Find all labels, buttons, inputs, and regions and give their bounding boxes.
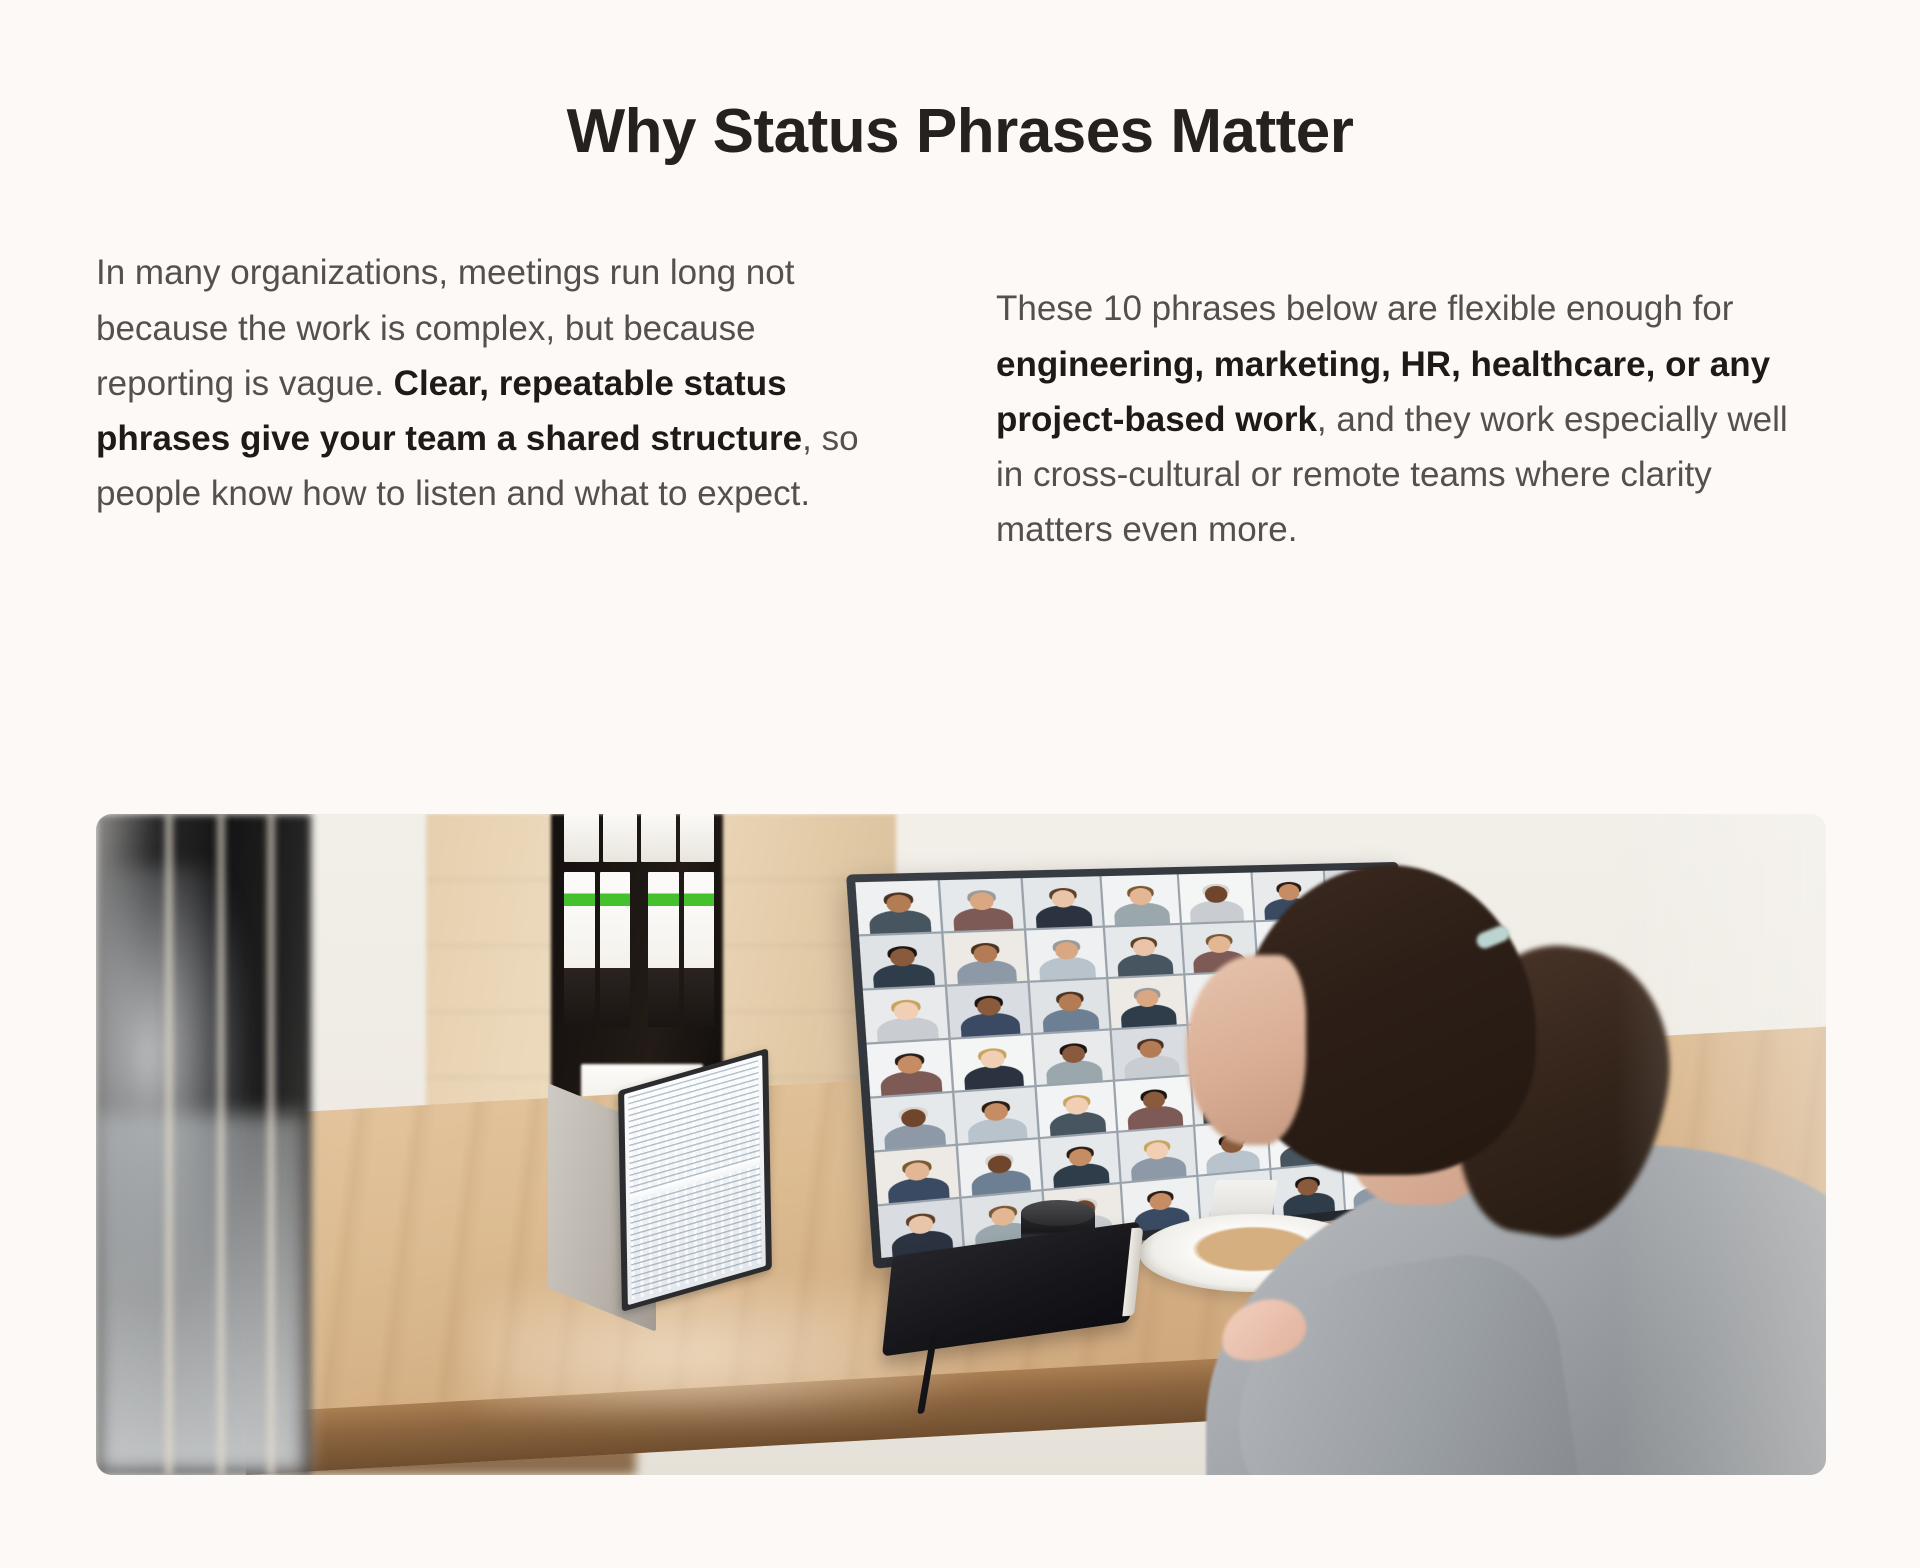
photo-video-participant-tile (1037, 1082, 1117, 1137)
photo-video-participant-tile (948, 983, 1031, 1038)
photo-video-participant-tile (1023, 876, 1103, 928)
photo-video-participant-tile (951, 1035, 1034, 1090)
photo-shelf-top-binders (564, 814, 714, 862)
photo-video-participant-tile (940, 878, 1023, 931)
page-root: Why Status Phrases Matter In many organi… (0, 0, 1920, 1568)
photo-video-participant-tile (1026, 928, 1106, 981)
photo-video-participant-tile (874, 1146, 960, 1204)
photo-video-participant-tile (863, 987, 949, 1043)
intro-right-paragraph: These 10 phrases below are flexible enou… (996, 281, 1816, 557)
photo-video-participant-tile (855, 880, 941, 934)
photo-video-participant-tile (1033, 1030, 1113, 1084)
intro-right-segment-1: These 10 phrases below are flexible enou… (996, 289, 1733, 328)
photo-tented-laptop (548, 1069, 768, 1309)
intro-left-column: In many organizations, meetings run long… (96, 245, 956, 521)
photo-foreground-streak-1 (162, 814, 176, 1475)
photo-video-participant-tile (955, 1087, 1038, 1143)
photo-video-participant-tile (870, 1093, 956, 1150)
page-title: Why Status Phrases Matter (0, 0, 1920, 167)
photo-foreground-streak-2 (214, 814, 228, 1475)
intro-columns: In many organizations, meetings run long… (0, 245, 1920, 557)
photo-video-participant-tile (944, 931, 1027, 985)
intro-left-paragraph: In many organizations, meetings run long… (96, 245, 876, 521)
photo-video-participant-tile (867, 1040, 953, 1097)
photo-video-participant-tile (859, 934, 945, 989)
hero-photo (96, 814, 1826, 1475)
photo-woman (1106, 825, 1826, 1475)
photo-foreground-streak-3 (264, 814, 278, 1475)
photo-video-participant-tile (959, 1139, 1042, 1196)
hero-photo-scene (96, 814, 1826, 1475)
photo-video-participant-tile (1030, 979, 1110, 1033)
photo-shelf-binders (564, 872, 714, 1027)
intro-right-column: These 10 phrases below are flexible enou… (956, 245, 1816, 557)
